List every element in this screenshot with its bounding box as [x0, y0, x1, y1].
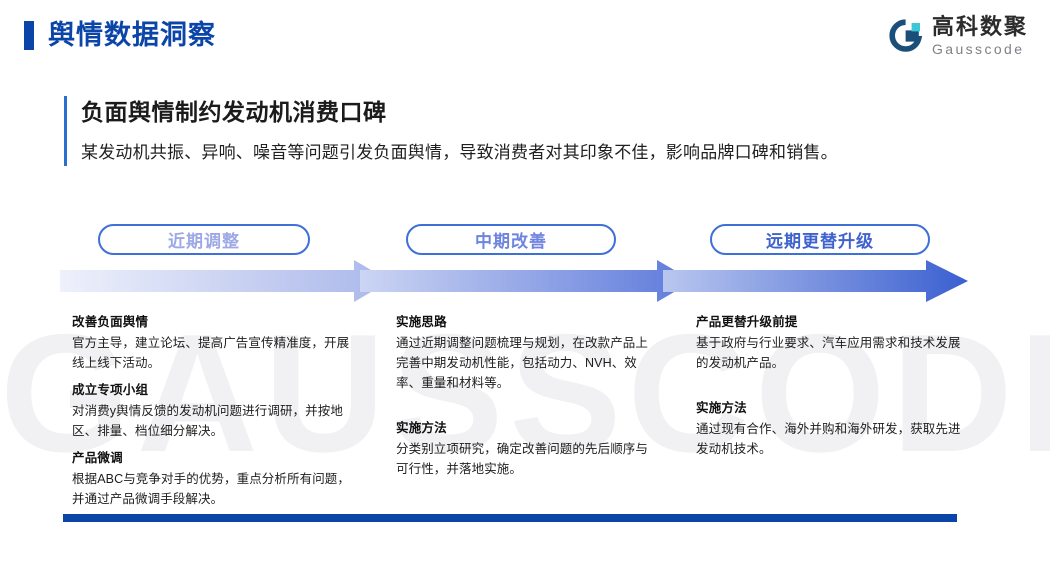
detail-block: 实施方法 分类别立项研究，确定改善问题的先后顺序与可行性，并落地实施。 — [396, 418, 658, 479]
detail-column-long-term: 产品更替升级前提 基于政府与行业要求、汽车应用需求和技术发展的发动机产品。 实施… — [696, 312, 964, 459]
detail-block-title: 实施方法 — [696, 398, 964, 418]
gausscode-logo-icon — [889, 19, 923, 53]
detail-block-body: 对消费y舆情反馈的发动机问题进行调研，并按地区、排量、档位细分解决。 — [72, 401, 360, 441]
logo-chinese-name: 高科数聚 — [932, 16, 1028, 38]
detail-block: 实施方法 通过现有合作、海外并购和海外研发，获取先进发动机技术。 — [696, 398, 964, 459]
phase-detail-columns: 改善负面舆情 官方主导，建立论坛、提高广告宣传精准度，开展线上线下活动。 成立专… — [0, 312, 1050, 502]
detail-block-body: 分类别立项研究，确定改善问题的先后顺序与可行性，并落地实施。 — [396, 439, 658, 479]
phase-pill-long-term[interactable]: 远期更替升级 — [710, 224, 930, 255]
detail-column-near-term: 改善负面舆情 官方主导，建立论坛、提高广告宣传精准度，开展线上线下活动。 成立专… — [72, 312, 360, 509]
detail-block: 改善负面舆情 官方主导，建立论坛、提高广告宣传精准度，开展线上线下活动。 — [72, 312, 360, 373]
logo-wordmark: 高科数聚 Gausscode — [932, 16, 1028, 56]
footer-bar — [63, 514, 957, 522]
phase-pill-mid-term[interactable]: 中期改善 — [406, 224, 616, 255]
page-title: 舆情数据洞察 — [48, 15, 216, 55]
headline-block: 负面舆情制约发动机消费口碑 某发动机共振、异响、噪音等问题引发负面舆情，导致消费… — [64, 96, 964, 166]
timeline-arrow — [60, 258, 975, 304]
detail-block: 实施思路 通过近期调整问题梳理与规划，在改款产品上完善中期发动机性能，包括动力、… — [396, 312, 658, 393]
detail-block-body: 官方主导，建立论坛、提高广告宣传精准度，开展线上线下活动。 — [72, 333, 360, 373]
detail-block-title: 产品更替升级前提 — [696, 312, 964, 332]
detail-block-title: 产品微调 — [72, 448, 360, 468]
phase-pill-label: 近期调整 — [168, 227, 240, 252]
detail-block: 产品更替升级前提 基于政府与行业要求、汽车应用需求和技术发展的发动机产品。 — [696, 312, 964, 373]
detail-block-body: 通过现有合作、海外并购和海外研发，获取先进发动机技术。 — [696, 419, 964, 459]
detail-block-body: 基于政府与行业要求、汽车应用需求和技术发展的发动机产品。 — [696, 333, 964, 373]
phase-pill-near-term[interactable]: 近期调整 — [98, 224, 310, 255]
detail-block: 产品微调 根据ABC与竞争对手的优势，重点分析所有问题，并通过产品微调手段解决。 — [72, 448, 360, 509]
detail-block-body: 通过近期调整问题梳理与规划，在改款产品上完善中期发动机性能，包括动力、NVH、效… — [396, 333, 658, 393]
phase-pill-label: 中期改善 — [475, 227, 547, 252]
detail-block: 成立专项小组 对消费y舆情反馈的发动机问题进行调研，并按地区、排量、档位细分解决… — [72, 380, 360, 441]
headline-title: 负面舆情制约发动机消费口碑 — [81, 96, 964, 128]
logo-english-name: Gausscode — [932, 42, 1028, 56]
detail-block-title: 成立专项小组 — [72, 380, 360, 400]
detail-block-title: 实施思路 — [396, 312, 658, 332]
phase-pill-label: 远期更替升级 — [766, 227, 874, 252]
detail-block-body: 根据ABC与竞争对手的优势，重点分析所有问题，并通过产品微调手段解决。 — [72, 469, 360, 509]
detail-block-title: 实施方法 — [396, 418, 658, 438]
detail-column-mid-term: 实施思路 通过近期调整问题梳理与规划，在改款产品上完善中期发动机性能，包括动力、… — [396, 312, 658, 479]
slide-root: GAUSSCODE 舆情数据洞察 高科数聚 Gausscode 负面舆情制约发动… — [0, 0, 1050, 588]
headline-subtitle: 某发动机共振、异响、噪音等问题引发负面舆情，导致消费者对其印象不佳，影响品牌口碑… — [81, 140, 964, 166]
header-accent-bar — [24, 21, 34, 50]
brand-logo: 高科数聚 Gausscode — [889, 16, 1028, 56]
detail-block-title: 改善负面舆情 — [72, 312, 360, 332]
